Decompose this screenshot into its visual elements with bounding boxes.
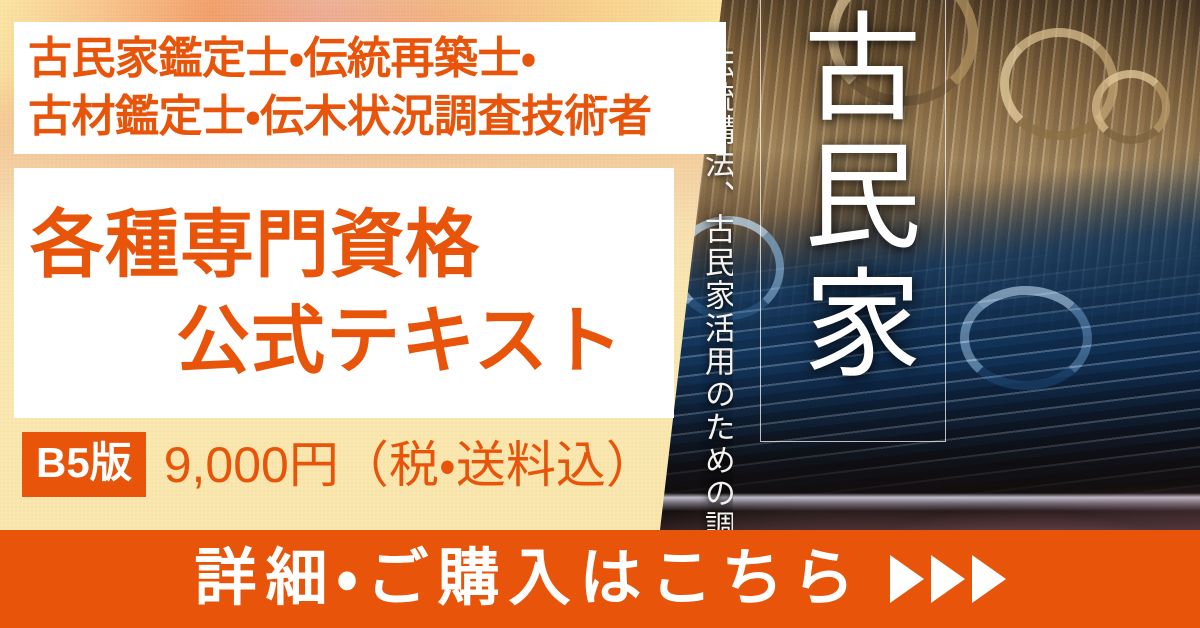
- price-amount: 9,000円（税・送料込）: [164, 440, 656, 490]
- credentials-line-2: 古材鑑定士・伝木状況調査技術者: [28, 88, 726, 146]
- chevron-right-icon: [890, 555, 924, 603]
- price-block: B5版 9,000円（税・送料込）: [22, 432, 656, 497]
- carved-scroll-curl: [1092, 70, 1170, 144]
- chevron-right-icon: [931, 555, 965, 603]
- blue-tile-curl: [960, 286, 1092, 390]
- cta-bar[interactable]: 詳細・ご購入はこちら: [0, 530, 1200, 628]
- headline-block: 各種専門資格 公式テキスト: [14, 168, 674, 418]
- cta-label: 詳細・ご購入はこちら: [194, 548, 863, 610]
- carved-scroll-curl: [1000, 28, 1118, 140]
- promo-banner: 古民家 伝統構法、古民家活用のための調査と再生の 古民家鑑定士・伝統再築士・ 古…: [0, 0, 1200, 628]
- format-badge-b5: B5版: [22, 432, 146, 497]
- book-cover-title: 古民家: [790, 6, 920, 390]
- cta-arrow-group: [890, 555, 1006, 603]
- chevron-right-icon: [972, 555, 1006, 603]
- headline-line-1: 各種専門資格: [14, 197, 674, 293]
- headline-line-2: 公式テキスト: [14, 293, 674, 389]
- credentials-block: 古民家鑑定士・伝統再築士・ 古材鑑定士・伝木状況調査技術者: [14, 22, 726, 154]
- credentials-line-1: 古民家鑑定士・伝統再築士・: [28, 30, 726, 88]
